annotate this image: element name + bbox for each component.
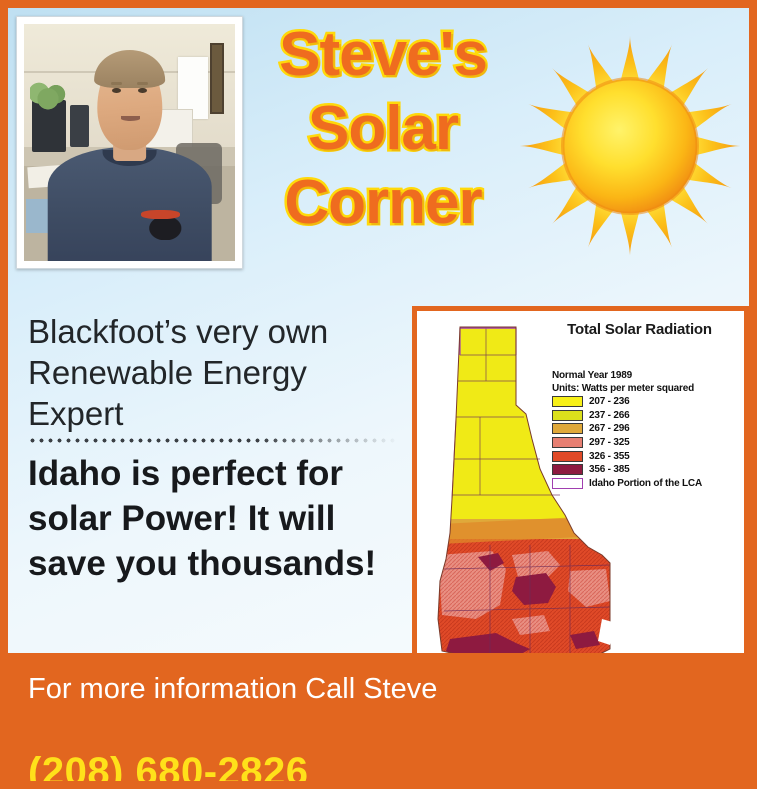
lead-text: Blackfoot’s very own Renewable Energy Ex… <box>28 311 398 434</box>
photo-monitor-second <box>70 105 89 148</box>
photo-plant <box>30 76 66 114</box>
title-line-1: Steve's <box>244 18 522 92</box>
legend-label: 326 - 355 <box>589 451 629 462</box>
photo-person-brow-right <box>137 82 149 85</box>
footer-phone-number[interactable]: (208) 680-2826 <box>28 750 309 789</box>
legend-row: 237 - 266 <box>552 409 740 423</box>
legend-row: 356 - 385 <box>552 463 740 477</box>
photo-framed-picture <box>210 43 225 114</box>
legend-units: Units: Watts per meter squared <box>552 382 740 395</box>
pitch-text: Idaho is perfect for solar Power! It wil… <box>28 451 408 586</box>
legend-swatch <box>552 423 583 434</box>
legend-row: 207 - 236 <box>552 395 740 409</box>
legend-year: Normal Year 1989 <box>552 369 740 382</box>
advertisement: Steve's Solar Corner <box>0 0 757 789</box>
page-title: Steve's Solar Corner <box>244 18 522 240</box>
legend-swatch <box>552 451 583 462</box>
legend-swatch <box>552 410 583 421</box>
legend-label: 267 - 296 <box>589 423 629 434</box>
legend-label: 297 - 325 <box>589 437 629 448</box>
ad-footer: For more information Call Steve (208) 68… <box>0 653 757 789</box>
legend-label: 356 - 385 <box>589 464 629 475</box>
title-line-2: Solar <box>244 92 522 166</box>
dotted-divider <box>28 438 400 443</box>
legend-row: 267 - 296 <box>552 422 740 436</box>
ad-header: Steve's Solar Corner <box>8 8 749 280</box>
steve-photo <box>24 24 235 261</box>
legend-swatch <box>552 464 583 475</box>
title-line-3: Corner <box>244 166 522 240</box>
sun-icon <box>514 30 746 262</box>
photo-person-brow-left <box>111 82 123 85</box>
legend-row: 297 - 325 <box>552 436 740 450</box>
steve-photo-frame <box>16 16 243 269</box>
legend-swatch-lca <box>552 478 583 489</box>
legend-swatch <box>552 396 583 407</box>
legend-label: 207 - 236 <box>589 396 629 407</box>
map-legend: Normal Year 1989 Units: Watts per meter … <box>552 369 740 490</box>
photo-shirt-logo <box>140 209 186 240</box>
legend-label: Idaho Portion of the LCA <box>589 478 702 489</box>
legend-swatch <box>552 437 583 448</box>
photo-person-eye-left <box>112 88 121 93</box>
legend-row: 326 - 355 <box>552 449 740 463</box>
footer-message: For more information Call Steve <box>28 671 448 707</box>
legend-label: 237 - 266 <box>589 410 629 421</box>
legend-row-lca: Idaho Portion of the LCA <box>552 477 740 491</box>
